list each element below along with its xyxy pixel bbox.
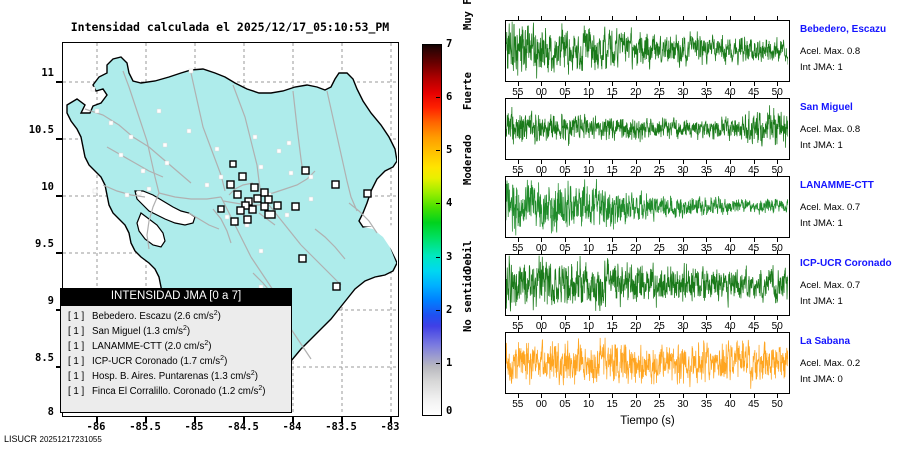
time-tick-mark <box>636 238 637 242</box>
map-ytick-9: 9 <box>10 295 54 307</box>
colorbar-value-5: 5 <box>446 144 462 156</box>
time-tick-mark <box>565 82 566 86</box>
time-tick-mark <box>659 16 660 20</box>
time-tick-mark <box>636 250 637 254</box>
time-tick-mark <box>565 160 566 164</box>
time-tick-mark <box>683 250 684 254</box>
colorbar-tick <box>436 310 440 311</box>
page-title: Intensidad calculada el 2025/12/17_05:10… <box>60 20 400 34</box>
time-tick-label: 25 <box>647 399 671 410</box>
time-tick-mark <box>659 328 660 332</box>
map-xtick-mark <box>243 417 245 423</box>
time-tick-mark <box>518 394 519 398</box>
time-tick-mark <box>659 172 660 176</box>
time-tick-mark <box>683 82 684 86</box>
time-tick-mark <box>518 328 519 332</box>
time-tick-mark <box>754 250 755 254</box>
time-tick-mark <box>565 16 566 20</box>
station-accel-0: Acel. Max. 0.8 <box>800 46 860 57</box>
time-tick-mark <box>706 160 707 164</box>
map-ytick-10_5: 10.5 <box>10 124 54 136</box>
time-tick-mark <box>612 160 613 164</box>
colorbar-tick <box>436 44 440 45</box>
seismogram-panel-lanamme-ctt[interactable] <box>505 176 790 238</box>
time-tick-mark <box>541 328 542 332</box>
legend-row: [ 1 ]San Miguel (1.3 cm/s2) <box>61 321 291 336</box>
station-jma-3: Int JMA: 1 <box>800 296 843 307</box>
legend-station: Finca El Corralillo. Coronado <box>92 386 216 397</box>
colorbar-value-7: 7 <box>446 38 462 50</box>
time-tick-mark <box>683 328 684 332</box>
time-tick-mark <box>518 16 519 20</box>
time-tick-mark <box>612 394 613 398</box>
time-tick-mark <box>589 328 590 332</box>
colorbar-tick <box>436 203 440 204</box>
time-tick-mark <box>777 82 778 86</box>
time-tick-mark <box>541 316 542 320</box>
legend-row: [ 1 ]LANAMME-CTT (2.0 cm/s2) <box>61 336 291 351</box>
time-tick-mark <box>730 316 731 320</box>
time-tick-mark <box>730 160 731 164</box>
seismogram-panel-icp-ucr-coronado[interactable] <box>505 254 790 316</box>
time-tick-mark <box>518 316 519 320</box>
map-xtick-mark <box>390 417 392 423</box>
time-tick-mark <box>589 16 590 20</box>
waveform-trace <box>506 99 788 158</box>
time-tick-mark <box>777 316 778 320</box>
map-ytick-8: 8 <box>10 406 54 418</box>
time-tick-mark <box>589 316 590 320</box>
time-tick-mark <box>659 316 660 320</box>
colorbar-value-6: 6 <box>446 91 462 103</box>
time-tick-mark <box>565 394 566 398</box>
map-ytick-mark <box>56 81 62 83</box>
waveform-trace <box>506 333 788 392</box>
time-tick-mark <box>541 394 542 398</box>
time-tick-label: 45 <box>742 399 766 410</box>
legend-accel: 1.2 <box>222 386 235 397</box>
time-tick-mark <box>706 94 707 98</box>
time-tick-mark <box>541 160 542 164</box>
time-tick-mark <box>683 94 684 98</box>
time-tick-mark <box>636 328 637 332</box>
colorbar-value-2: 2 <box>446 304 462 316</box>
time-tick-mark <box>589 160 590 164</box>
time-tick-mark <box>730 250 731 254</box>
seismogram-xaxis-label: Tiempo (s) <box>505 415 790 427</box>
time-tick-mark <box>706 82 707 86</box>
time-tick-mark <box>565 94 566 98</box>
time-tick-mark <box>659 160 660 164</box>
map-ytick-mark <box>56 195 62 197</box>
time-tick-mark <box>541 238 542 242</box>
time-tick-mark <box>589 250 590 254</box>
time-tick-mark <box>706 16 707 20</box>
waveform-trace <box>506 21 788 80</box>
time-tick-mark <box>589 172 590 176</box>
station-jma-1: Int JMA: 1 <box>800 140 843 151</box>
time-tick-mark <box>683 16 684 20</box>
time-tick-mark <box>589 238 590 242</box>
time-tick-mark <box>730 328 731 332</box>
time-tick-mark <box>730 172 731 176</box>
time-tick-mark <box>754 172 755 176</box>
time-tick-mark <box>754 82 755 86</box>
time-tick-mark <box>683 172 684 176</box>
time-tick-mark <box>518 82 519 86</box>
map-ytick-9_5: 9.5 <box>10 238 54 250</box>
time-tick-mark <box>541 250 542 254</box>
time-tick-mark <box>754 94 755 98</box>
time-tick-mark <box>730 94 731 98</box>
time-tick-mark <box>754 160 755 164</box>
time-tick-mark <box>636 94 637 98</box>
time-tick-mark <box>612 94 613 98</box>
station-name-4: La Sabana <box>800 336 850 347</box>
time-tick-mark <box>730 82 731 86</box>
time-tick-mark <box>754 328 755 332</box>
map-xtick-mark <box>341 417 343 423</box>
colorbar-label-no-sentido: No sentido <box>462 269 474 332</box>
legend-index: [ 1 ] <box>68 384 92 399</box>
time-tick-mark <box>730 238 731 242</box>
station-accel-1: Acel. Max. 0.8 <box>800 124 860 135</box>
time-tick-mark <box>659 82 660 86</box>
seismogram-panel-bebedero-escazu[interactable] <box>505 20 790 82</box>
station-name-1: San Miguel <box>800 102 853 113</box>
waveform-trace <box>506 177 788 236</box>
time-tick-mark <box>777 172 778 176</box>
colorbar-label-moderado: Moderado <box>462 134 474 185</box>
time-tick-mark <box>589 82 590 86</box>
footer-code: 20251217231055 <box>40 435 102 444</box>
legend-box: [ 1 ]Bebedero. Escazu (2.6 cm/s2) [ 1 ]S… <box>60 305 292 413</box>
time-tick-label: 15 <box>600 399 624 410</box>
time-tick-label: 55 <box>506 399 530 410</box>
time-tick-mark <box>565 316 566 320</box>
time-tick-mark <box>541 172 542 176</box>
time-tick-mark <box>541 82 542 86</box>
time-tick-mark <box>541 94 542 98</box>
time-tick-mark <box>730 16 731 20</box>
map-xtick-mark <box>292 417 294 423</box>
time-tick-mark <box>636 316 637 320</box>
colorbar-label-muy-fuerte: Muy Fuerte <box>462 0 474 30</box>
time-tick-mark <box>636 160 637 164</box>
time-tick-mark <box>636 172 637 176</box>
time-tick-mark <box>612 82 613 86</box>
station-jma-2: Int JMA: 1 <box>800 218 843 229</box>
time-tick-mark <box>565 250 566 254</box>
map-ytick-10: 10 <box>10 181 54 193</box>
colorbar-value-3: 3 <box>446 251 462 263</box>
time-tick-label: 10 <box>577 399 601 410</box>
time-tick-mark <box>612 16 613 20</box>
legend-row: [ 1 ]Bebedero. Escazu (2.6 cm/s2) <box>61 306 291 321</box>
station-jma-4: Int JMA: 0 <box>800 374 843 385</box>
time-tick-mark <box>754 316 755 320</box>
time-tick-mark <box>683 238 684 242</box>
legend-unit: cm/s <box>193 311 213 322</box>
time-tick-mark <box>541 16 542 20</box>
map-xtick-mark <box>194 417 196 423</box>
footer-agency: LISUCR <box>4 434 37 444</box>
time-tick-mark <box>659 238 660 242</box>
time-tick-mark <box>706 250 707 254</box>
legend-unit: cm/s <box>238 386 258 397</box>
time-tick-mark <box>612 238 613 242</box>
time-tick-mark <box>589 394 590 398</box>
station-accel-2: Acel. Max. 0.7 <box>800 202 860 213</box>
time-tick-mark <box>612 250 613 254</box>
station-jma-0: Int JMA: 1 <box>800 62 843 73</box>
legend-row: [ 1 ]Hosp. B. Aires. Puntarenas (1.3 cm/… <box>61 366 291 381</box>
time-tick-mark <box>706 172 707 176</box>
time-tick-mark <box>706 394 707 398</box>
time-tick-mark <box>706 238 707 242</box>
colorbar-value-4: 4 <box>446 197 462 209</box>
time-tick-mark <box>777 250 778 254</box>
map-xtick-mark <box>145 417 147 423</box>
legend-row: [ 1 ]ICP-UCR Coronado (1.7 cm/s2) <box>61 351 291 366</box>
time-tick-mark <box>659 250 660 254</box>
time-tick-label: 35 <box>694 399 718 410</box>
time-tick-label: 20 <box>624 399 648 410</box>
colorbar-tick <box>436 363 440 364</box>
time-tick-mark <box>518 94 519 98</box>
time-tick-mark <box>612 328 613 332</box>
time-tick-mark <box>754 16 755 20</box>
map-ytick-mark <box>56 138 62 140</box>
colorbar-value-0: 0 <box>446 405 462 417</box>
time-tick-mark <box>589 94 590 98</box>
time-tick-mark <box>777 94 778 98</box>
time-tick-label: 05 <box>553 399 577 410</box>
time-tick-mark <box>636 82 637 86</box>
time-tick-mark <box>683 316 684 320</box>
footer-credit: LISUCR 20251217231055 <box>4 434 102 444</box>
time-tick-mark <box>659 94 660 98</box>
time-tick-mark <box>565 238 566 242</box>
time-tick-mark <box>565 172 566 176</box>
seismogram-panel-san-miguel[interactable] <box>505 98 790 160</box>
time-tick-mark <box>518 250 519 254</box>
time-tick-mark <box>683 394 684 398</box>
time-tick-mark <box>612 172 613 176</box>
time-tick-mark <box>706 316 707 320</box>
time-tick-label: 30 <box>671 399 695 410</box>
time-tick-mark <box>777 16 778 20</box>
time-tick-mark <box>636 16 637 20</box>
colorbar-tick <box>436 257 440 258</box>
time-tick-mark <box>518 238 519 242</box>
map-ytick-mark <box>56 252 62 254</box>
time-tick-mark <box>730 394 731 398</box>
time-tick-mark <box>754 394 755 398</box>
time-tick-label: 50 <box>765 399 789 410</box>
colorbar-label-debil: Debil <box>462 240 474 272</box>
station-name-0: Bebedero, Escazu <box>800 24 886 35</box>
station-name-2: LANAMME-CTT <box>800 180 874 191</box>
time-tick-mark <box>754 238 755 242</box>
time-tick-mark <box>777 328 778 332</box>
time-tick-label: 40 <box>718 399 742 410</box>
time-tick-mark <box>565 328 566 332</box>
time-tick-mark <box>659 394 660 398</box>
colorbar-label-fuerte: Fuerte <box>462 72 474 110</box>
intensity-colorbar <box>422 44 442 416</box>
station-name-3: ICP-UCR Coronado <box>800 258 892 269</box>
legend-title: INTENSIDAD JMA [0 a 7] <box>60 288 292 305</box>
time-tick-mark <box>683 160 684 164</box>
time-tick-mark <box>777 394 778 398</box>
time-tick-mark <box>636 394 637 398</box>
time-tick-label: 00 <box>529 399 553 410</box>
time-tick-mark <box>518 160 519 164</box>
map-ytick-8_5: 8.5 <box>10 352 54 364</box>
time-tick-mark <box>777 238 778 242</box>
station-accel-4: Acel. Max. 0.2 <box>800 358 860 369</box>
station-accel-3: Acel. Max. 0.7 <box>800 280 860 291</box>
legend-row: [ 1 ]Finca El Corralillo. Coronado (1.2 … <box>61 381 291 396</box>
waveform-trace <box>506 255 788 314</box>
time-tick-mark <box>777 160 778 164</box>
time-tick-mark <box>612 316 613 320</box>
map-xtick-mark <box>96 417 98 423</box>
map-ytick-11: 11 <box>10 67 54 79</box>
colorbar-value-1: 1 <box>446 357 462 369</box>
time-tick-mark <box>518 172 519 176</box>
colorbar-tick <box>436 97 440 98</box>
colorbar-tick <box>436 150 440 151</box>
time-tick-mark <box>706 328 707 332</box>
seismogram-panel-la-sabana[interactable] <box>505 332 790 394</box>
